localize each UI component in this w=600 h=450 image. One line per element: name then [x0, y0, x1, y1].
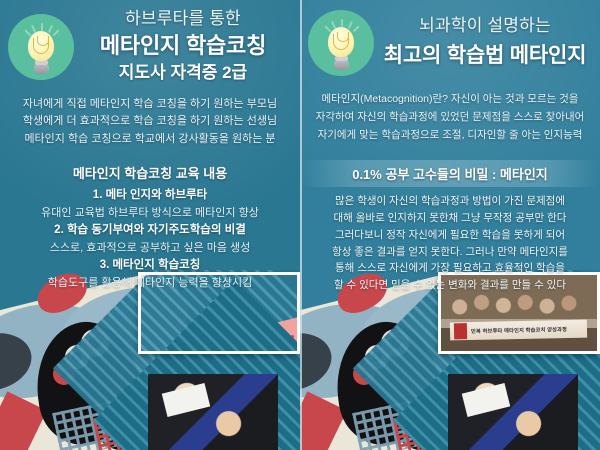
left-title-line3: 지도사 자격증 2급 — [74, 62, 292, 84]
right-header: 뇌과학이 설명하는 최고의 학습법 메타인지 — [300, 0, 600, 76]
audience-line-3: 메타인지 학습 코칭으로 학교에서 강사활동을 원하는 분 — [8, 131, 292, 149]
banner-logo-icon — [454, 323, 467, 339]
audience-line-1: 자녀에게 직접 메타인지 학습 코칭을 하기 원하는 부모님 — [8, 96, 292, 114]
curriculum-heading: 1. 메타 인지와 하브루타 — [0, 187, 300, 205]
right-title-line2: 최고의 학습법 메타인지 — [378, 42, 592, 69]
metacognition-definition: 메타인지(Metacognition)란? 자신이 아는 것과 모르는 것을 자… — [300, 90, 600, 144]
curriculum-heading: 2. 학습 동기부여와 자기주도학습의 비결 — [0, 222, 300, 240]
right-title-block: 뇌과학이 설명하는 최고의 학습법 메타인지 — [374, 15, 594, 69]
left-section-title: 메타인지 학습코칭 교육 내용 — [0, 163, 300, 182]
right-artwork: 민복 하브루타 메타인지 학습코치 양성과정 — [300, 270, 600, 450]
curriculum-item: 3. 메타인지 학습코칭 학습도구를 활용해 메타인지 능력을 향상시킴 — [0, 257, 300, 292]
photo-banner: 민복 하브루타 메타인지 학습코치 양성과정 — [450, 319, 588, 340]
poster-left: 하브루타를 통한 메타인지 학습코칭 지도사 자격증 2급 자녀에게 직접 메타… — [0, 0, 300, 450]
lightbulb-glyph — [328, 27, 354, 70]
audience-line-2: 학생에게 더 효과적으로 학습 코칭을 하기 원하는 선생님 — [8, 113, 292, 131]
curriculum-detail: 유대인 교육법 하브루타 방식으로 메타인지 향상 — [0, 205, 300, 222]
curriculum-item: 1. 메타 인지와 하브루타 유대인 교육법 하브루타 방식으로 메타인지 향상 — [0, 187, 300, 222]
left-artwork — [0, 270, 300, 450]
lightbulb-icon — [8, 14, 74, 80]
left-title-block: 하브루타를 통한 메타인지 학습코칭 지도사 자격증 2급 — [74, 8, 294, 84]
lightbulb-icon — [308, 10, 374, 76]
curriculum-item: 2. 학습 동기부여와 자기주도학습의 비결 스스로, 효과적으로 공부하고 싶… — [0, 222, 300, 257]
paragraph-line-5: 통해 스스로 자신에게 가장 필요하고 효율적인 학습을 — [307, 260, 593, 277]
paragraph-line-3: 그러다보니 정작 자신에게 필요한 학습을 못하게 되어 — [307, 227, 593, 244]
left-audience-list: 자녀에게 직접 메타인지 학습 코칭을 하기 원하는 부모님 학생에게 더 효과… — [0, 96, 300, 149]
curriculum-detail: 스스로, 효과적으로 공부하고 싶은 마음 생성 — [0, 240, 300, 257]
desk-workshop-photo — [148, 374, 278, 450]
definition-line-3: 자기에게 맞는 학습과정으로 조절, 디자인할 줄 아는 인지능력 — [308, 126, 592, 144]
paragraph-line-1: 많은 학생이 자신의 학습과정과 방법이 가진 문제점에 — [307, 193, 593, 210]
right-paragraph: 많은 학생이 자신의 학습과정과 방법이 가진 문제점에 대해 올바로 인지하지… — [300, 193, 600, 294]
paragraph-line-4: 항상 좋은 결과를 얻지 못한다. 그러나 만약 메타인지를 — [307, 244, 593, 261]
band-title: 0.1% 공부 고수들의 비밀 : 메타인지 — [300, 164, 600, 183]
left-header: 하브루타를 통한 메타인지 학습코칭 지도사 자격증 2급 — [0, 0, 300, 84]
curriculum-list: 1. 메타 인지와 하브루타 유대인 교육법 하브루타 방식으로 메타인지 향상… — [0, 187, 300, 292]
paragraph-line-6: 할 수 있다면 믿을 수 없는 변화와 결과를 만들 수 있다 — [307, 277, 593, 294]
photo-banner-text: 민복 하브루타 메타인지 학습코치 양성과정 — [471, 325, 583, 334]
definition-line-1: 메타인지(Metacognition)란? 자신이 아는 것과 모르는 것을 — [308, 90, 592, 108]
secret-band: 0.1% 공부 고수들의 비밀 : 메타인지 — [300, 160, 600, 187]
right-title-line1: 뇌과학이 설명하는 — [378, 15, 592, 38]
left-title-line1: 하브루타를 통한 — [74, 8, 292, 31]
poster-pair: 하브루타를 통한 메타인지 학습코칭 지도사 자격증 2급 자녀에게 직접 메타… — [0, 0, 600, 450]
curriculum-heading: 3. 메타인지 학습코칭 — [0, 257, 300, 275]
desk-workshop-photo — [448, 374, 578, 450]
curriculum-detail: 학습도구를 활용해 메타인지 능력을 향상시킴 — [0, 275, 300, 292]
paragraph-line-2: 대해 올바로 인지하지 못한채 그냥 무작정 공부만 한다 — [307, 210, 593, 227]
definition-line-2: 자각하여 자신의 학습과정에 있었던 문제점을 스스로 찾아내어 — [308, 108, 592, 126]
lightbulb-glyph — [28, 31, 54, 74]
poster-right: 뇌과학이 설명하는 최고의 학습법 메타인지 메타인지(Metacognitio… — [300, 0, 600, 450]
left-title-line2: 메타인지 학습코칭 — [74, 32, 292, 61]
